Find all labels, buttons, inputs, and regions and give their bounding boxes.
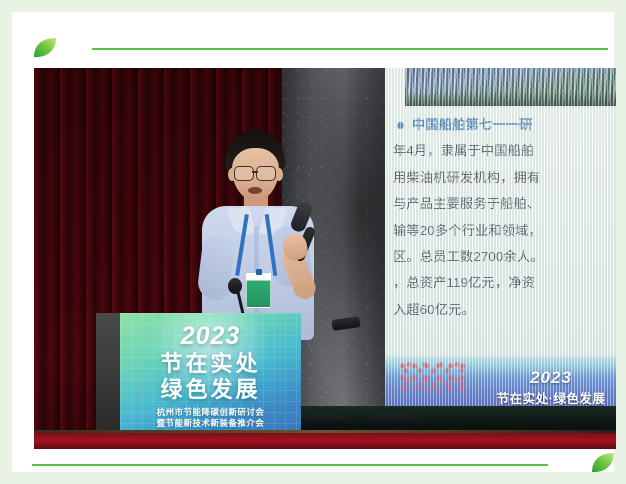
podium-front-panel: 2023 节在实处 绿色发展 杭州市节能降碳创新研讨会 暨节能新技术新装备推介会 bbox=[120, 313, 301, 433]
podium-year-mark: 2023 bbox=[120, 321, 301, 351]
floor-object bbox=[306, 414, 348, 426]
glasses-icon bbox=[234, 166, 254, 181]
projection-screen: 中国船舶第七一一研 年4月，隶属于中国船舶 用柴油机研发机构，拥有 与产品主要服… bbox=[385, 68, 616, 408]
podium-content: 2023 节在实处 绿色发展 杭州市节能降碳创新研讨会 暨节能新技术新装备推介会 bbox=[120, 313, 301, 433]
slide-heading-text: 中国船舶第七一一研 bbox=[412, 117, 533, 132]
slide-text-body: 中国船舶第七一一研 年4月，隶属于中国船舶 用柴油机研发机构，拥有 与产品主要服… bbox=[393, 112, 616, 323]
bullet-icon bbox=[397, 122, 404, 129]
slide-heading: 中国船舶第七一一研 bbox=[393, 112, 616, 138]
podium-subtitle-line1: 杭州市节能降碳创新研讨会 bbox=[120, 407, 301, 418]
podium-side-panel bbox=[96, 313, 120, 433]
speaker-ear bbox=[275, 168, 283, 181]
slide-line: 区。总员工数2700余人。 bbox=[393, 244, 616, 270]
watermark-mark: 2023 bbox=[481, 368, 616, 388]
floor-object bbox=[368, 414, 420, 426]
watermark-text: 节在实处·绿色发展 bbox=[481, 388, 616, 407]
podium-title-line1: 节在实处 bbox=[160, 351, 260, 376]
slide-line: 年4月，隶属于中国船舶 bbox=[393, 138, 616, 164]
page-root: 中国船舶第七一一研 年4月，隶属于中国船舶 用柴油机研发机构，拥有 与产品主要服… bbox=[0, 0, 626, 484]
red-carpet bbox=[34, 433, 616, 449]
slide-line: 用柴油机研发机构，拥有 bbox=[393, 165, 616, 191]
glasses-icon bbox=[256, 166, 276, 181]
desk-microphone-icon bbox=[228, 278, 242, 294]
leaf-icon bbox=[590, 452, 616, 474]
podium-title: 节在实处 绿色发展 bbox=[120, 351, 301, 403]
glasses-bridge bbox=[252, 171, 258, 173]
slide-line: 入超60亿元。 bbox=[393, 297, 616, 323]
slide-line: 输等20多个行业和领域， bbox=[393, 218, 616, 244]
leaf-icon bbox=[32, 37, 58, 59]
podium-subtitle-line2: 暨节能新技术新装备推介会 bbox=[120, 418, 301, 429]
divider-top bbox=[92, 48, 608, 50]
speaker-mouth bbox=[248, 187, 262, 194]
slide-line: ，总资产119亿元，净资 bbox=[393, 270, 616, 296]
slide-watermark: 2023 节在实处·绿色发展 bbox=[481, 368, 616, 408]
podium-banner: 2023 节在实处 绿色发展 杭州市节能降碳创新研讨会 暨节能新技术新装备推介会 bbox=[96, 313, 301, 433]
photo-card: 中国船舶第七一一研 年4月，隶属于中国船舶 用柴油机研发机构，拥有 与产品主要服… bbox=[12, 12, 614, 472]
slide-line: 与产品主要服务于船舶、 bbox=[393, 191, 616, 217]
divider-bottom bbox=[32, 464, 548, 466]
speaker-figure bbox=[184, 130, 334, 340]
conference-photo: 中国船舶第七一一研 年4月，隶属于中国船舶 用柴油机研发机构，拥有 与产品主要服… bbox=[34, 68, 616, 449]
id-badge bbox=[246, 272, 271, 308]
podium-title-line2: 绿色发展 bbox=[120, 377, 301, 403]
slide-header-image bbox=[405, 68, 616, 106]
podium-subtitle: 杭州市节能降碳创新研讨会 暨节能新技术新装备推介会 bbox=[120, 407, 301, 429]
